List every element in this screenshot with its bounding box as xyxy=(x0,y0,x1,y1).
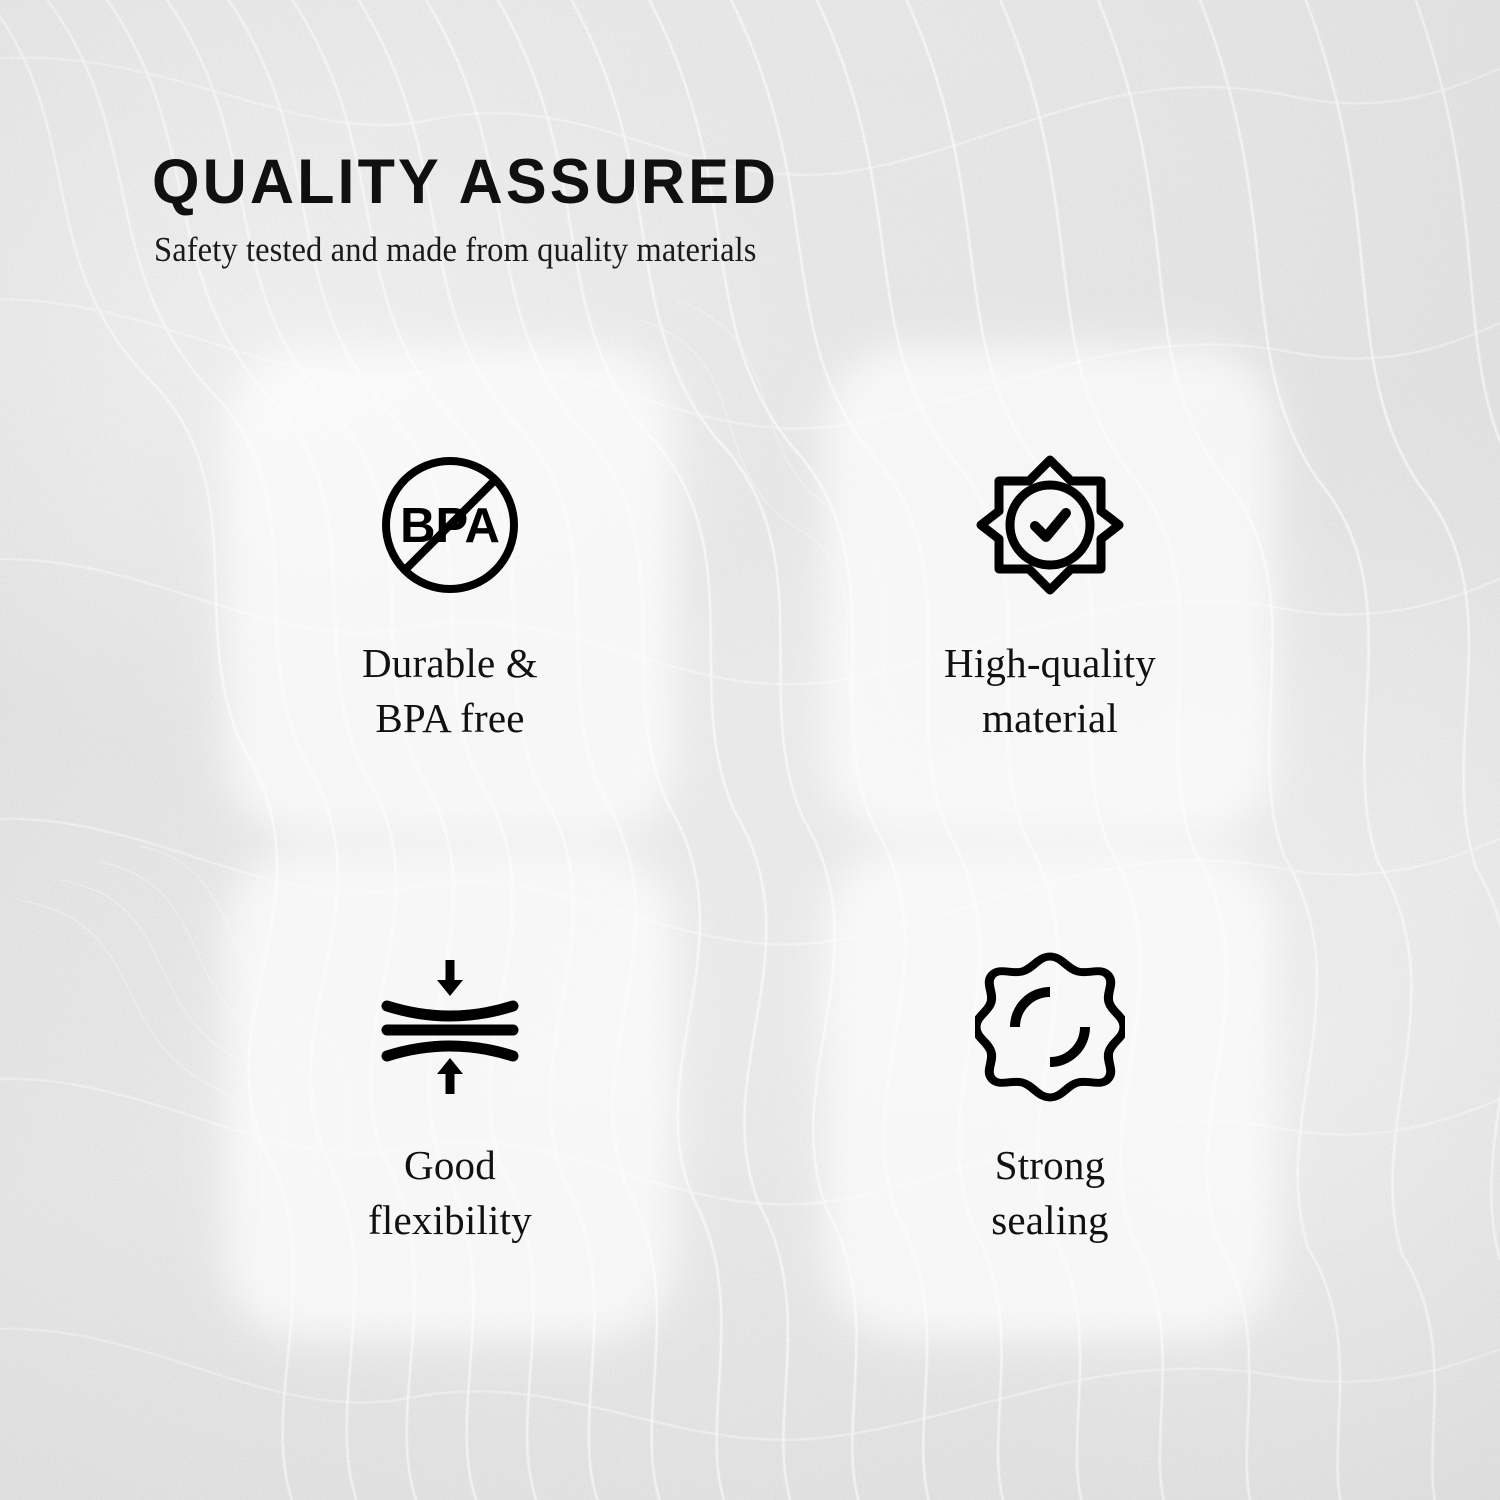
feature-grid: BPA Durable & BPA free High-quality mate… xyxy=(250,372,1250,1314)
icon-container: BPA xyxy=(375,450,525,600)
bpa-free-icon: BPA xyxy=(375,450,525,600)
feature-label: Good flexibility xyxy=(368,1138,532,1249)
feature-label: High-quality material xyxy=(944,636,1156,747)
quality-assured-infographic: QUALITY ASSURED Safety tested and made f… xyxy=(0,0,1500,1500)
quality-badge-check-icon xyxy=(975,450,1125,600)
feature-card-strong-sealing[interactable]: Strong sealing xyxy=(850,874,1250,1314)
header: QUALITY ASSURED Safety tested and made f… xyxy=(152,150,1252,270)
page-title: QUALITY ASSURED xyxy=(152,150,1219,216)
feature-label: Durable & BPA free xyxy=(362,636,538,747)
flexibility-arrows-icon xyxy=(375,952,525,1102)
feature-card-durable-bpa-free[interactable]: BPA Durable & BPA free xyxy=(250,372,650,812)
icon-container xyxy=(975,952,1125,1102)
page-subtitle: Safety tested and made from quality mate… xyxy=(154,230,1175,270)
icon-container xyxy=(975,450,1125,600)
bpa-label: BPA xyxy=(400,499,500,553)
feature-label: Strong sealing xyxy=(991,1138,1109,1249)
feature-card-good-flexibility[interactable]: Good flexibility xyxy=(250,874,650,1314)
seal-scallop-icon xyxy=(975,952,1125,1102)
icon-container xyxy=(375,952,525,1102)
feature-card-high-quality-material[interactable]: High-quality material xyxy=(850,372,1250,812)
